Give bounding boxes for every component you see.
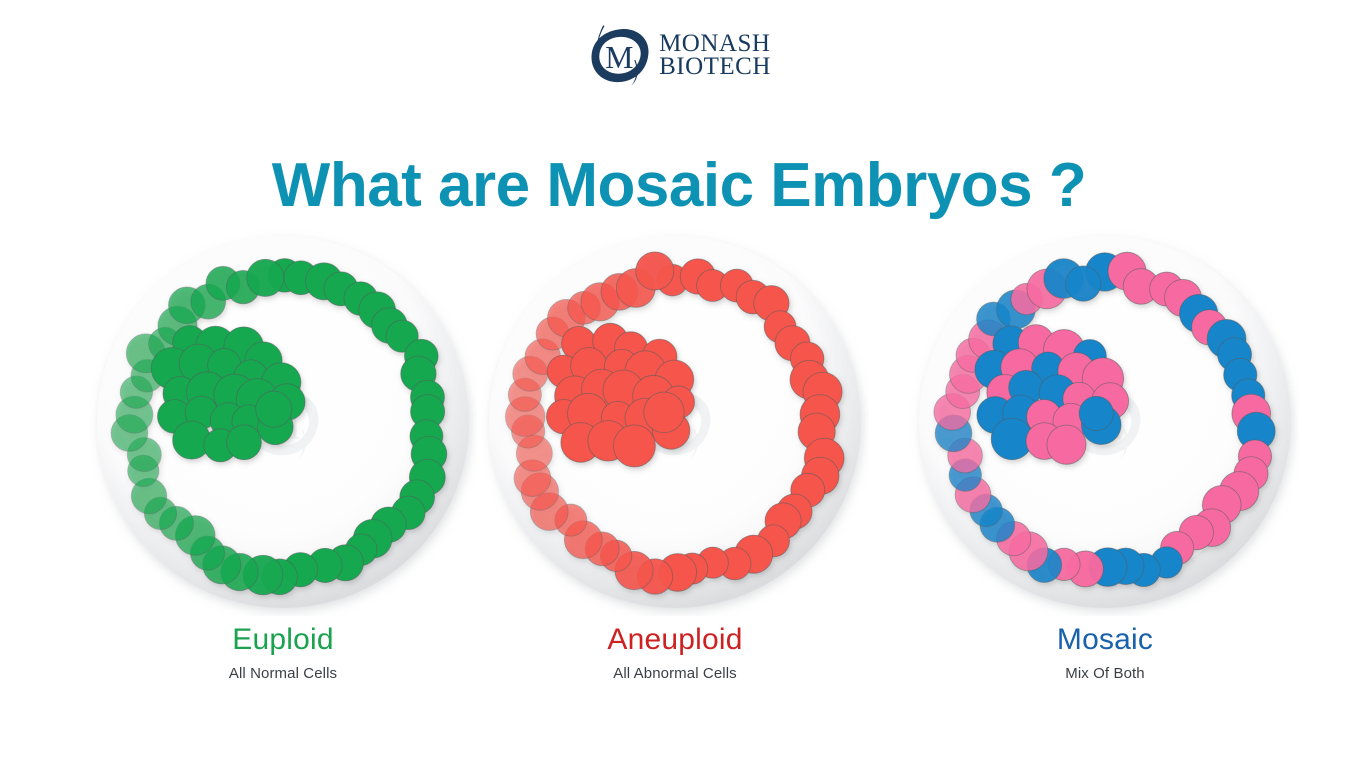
- blastocyst-euploid: M: [89, 228, 477, 616]
- blastocyst-mosaic: M: [911, 228, 1299, 616]
- caption-title-aneuploid: Aneuploid: [481, 622, 869, 658]
- caption-sub-aneuploid: All Abnormal Cells: [481, 664, 869, 684]
- embryo-figure-aneuploid: M: [481, 228, 869, 616]
- caption-title-euploid: Euploid: [89, 622, 477, 658]
- embryo-diagram-row: M M M: [0, 228, 1358, 628]
- embryo-cell: [644, 392, 685, 433]
- embryo-cell: [1047, 425, 1086, 464]
- embryo-cell: [1066, 266, 1101, 301]
- embryo-cell: [613, 425, 655, 467]
- embryo-cell: [636, 252, 674, 290]
- caption-block-aneuploid: Aneuploid All Abnormal Cells: [481, 622, 869, 684]
- caption-block-euploid: Euploid All Normal Cells: [89, 622, 477, 684]
- brand-name-line1: MONASH: [659, 32, 771, 56]
- monash-lens-m-icon: M: [587, 24, 653, 86]
- embryo-figure-mosaic: M: [911, 228, 1299, 616]
- brand-wordmark: MONASH BIOTECH: [659, 32, 771, 79]
- embryo-cell: [247, 259, 284, 296]
- caption-block-mosaic: Mosaic Mix Of Both: [911, 622, 1299, 684]
- caption-sub-mosaic: Mix Of Both: [911, 664, 1299, 684]
- page-title: What are Mosaic Embryos ?: [0, 150, 1358, 221]
- embryo-cell: [227, 425, 262, 460]
- blastocyst-aneuploid: M: [481, 228, 869, 616]
- brand-name-line2: BIOTECH: [659, 55, 771, 79]
- brand-logo: M MONASH BIOTECH: [0, 22, 1358, 88]
- svg-text:M: M: [605, 40, 633, 75]
- embryo-cell: [1079, 396, 1113, 430]
- embryo-cell: [256, 391, 292, 427]
- caption-title-mosaic: Mosaic: [911, 622, 1299, 658]
- embryo-figure-euploid: M: [89, 228, 477, 616]
- caption-sub-euploid: All Normal Cells: [89, 664, 477, 684]
